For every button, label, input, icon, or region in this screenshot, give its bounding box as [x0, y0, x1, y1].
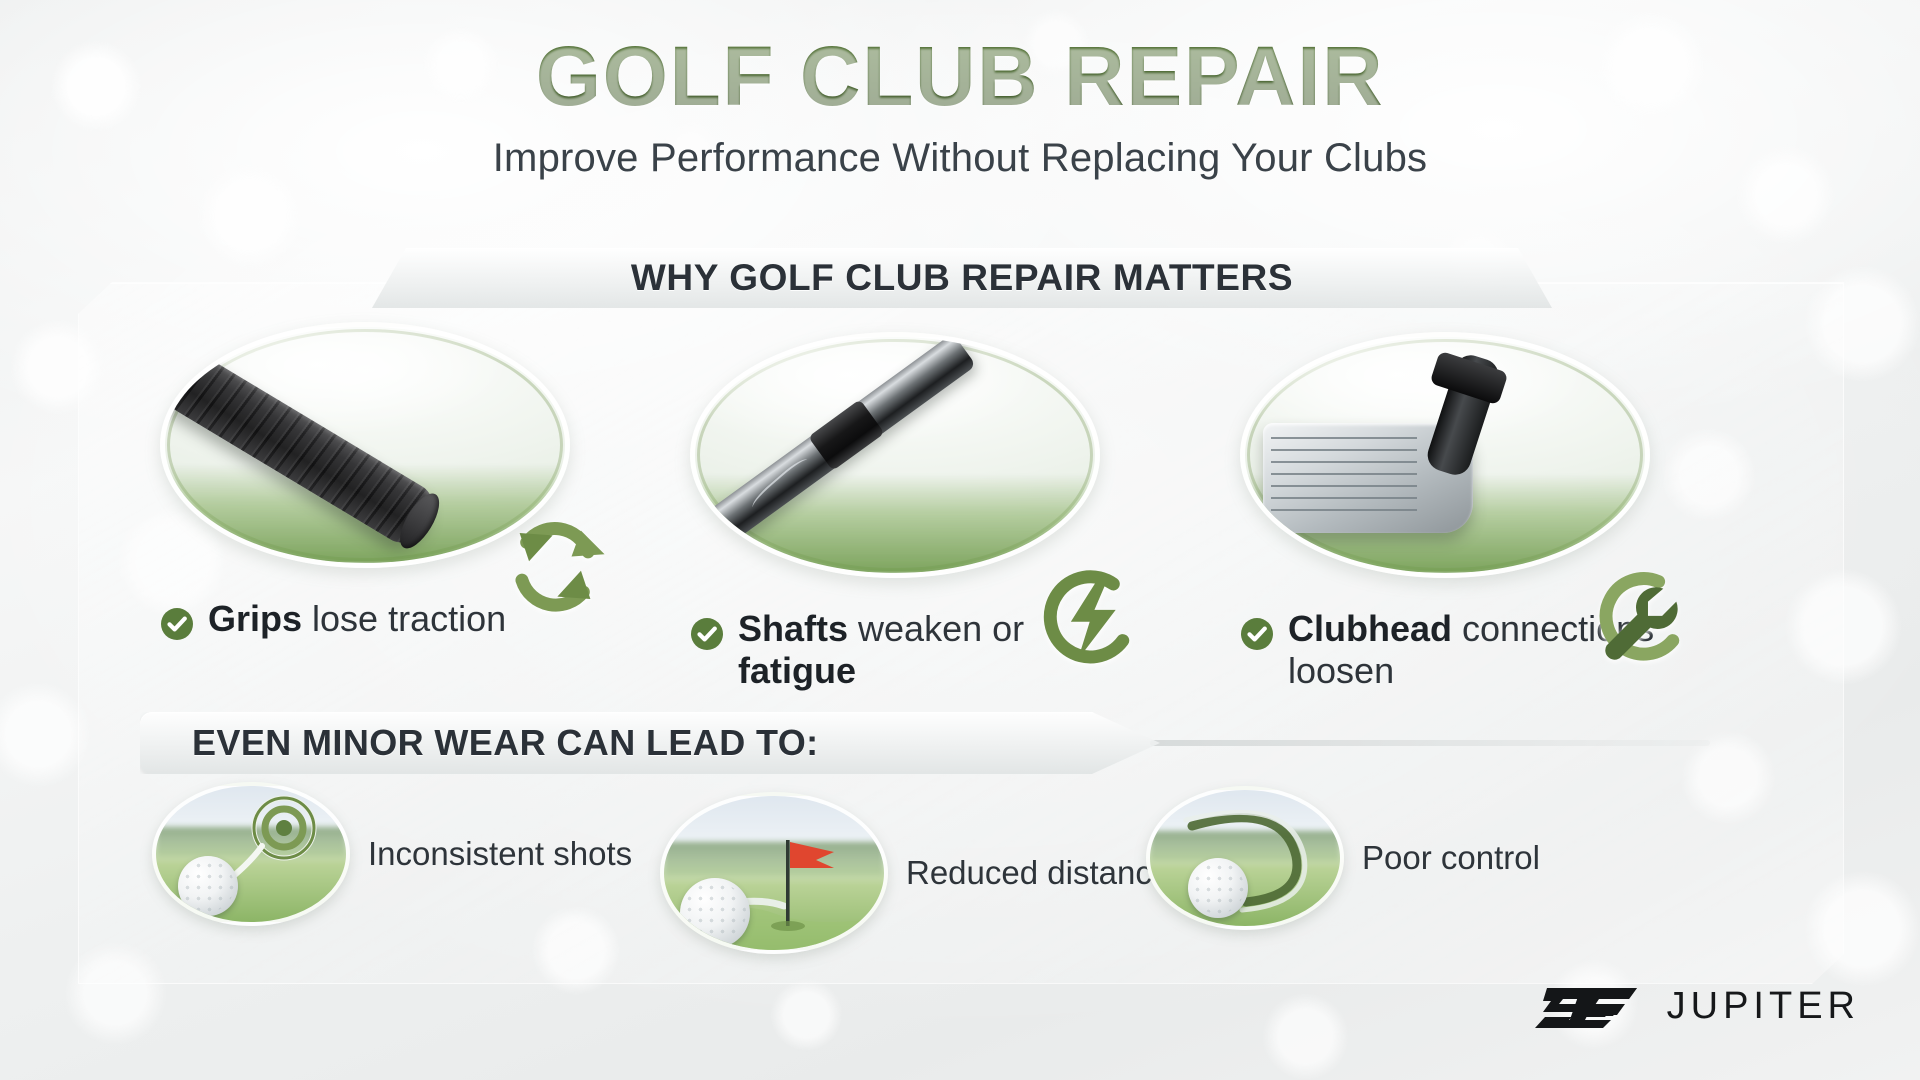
check-circle-icon: [160, 607, 194, 641]
check-circle-icon: [690, 617, 724, 651]
feature-caption-rest: lose traction: [302, 598, 506, 639]
clubhead-grooves: [1271, 437, 1417, 517]
consequence-inconsistent-shots: Inconsistent shots: [152, 782, 632, 926]
clubhead-illustration: [1240, 332, 1650, 578]
consequence-label: Reduced distance: [906, 853, 1170, 893]
consequence-reduced-distance: Reduced distance: [660, 792, 1170, 954]
ball-target-illustration: [152, 782, 350, 926]
curved-trajectory-icon: [1150, 790, 1340, 926]
ball-flag-fairway-illustration: [660, 792, 888, 954]
feature-caption-bold: Shafts: [738, 608, 848, 649]
brand-logo: JUPITER: [1533, 985, 1860, 1028]
golf-ball: [680, 878, 750, 948]
feature-card-clubhead: Clubhead connections loosen: [1240, 332, 1680, 692]
page-title: GOLF CLUB REPAIR: [0, 34, 1920, 118]
why-section-banner-label: WHY GOLF CLUB REPAIR MATTERS: [631, 257, 1293, 299]
consequence-label: Poor control: [1362, 838, 1540, 878]
recycle-arrows-icon: [496, 507, 614, 625]
infographic-canvas: GOLF CLUB REPAIR Improve Performance Wit…: [0, 0, 1920, 1080]
feature-caption-text: Grips lose traction: [208, 598, 506, 640]
feature-caption-bold: Clubhead: [1288, 608, 1452, 649]
sf-logo-mark: [1533, 986, 1651, 1028]
why-section-banner: WHY GOLF CLUB REPAIR MATTERS: [372, 248, 1552, 308]
feature-caption-rest: weaken or: [848, 608, 1024, 649]
golf-ball: [1188, 858, 1248, 918]
golf-shaft-illustration: [690, 332, 1100, 578]
wrench-icon: [1576, 558, 1694, 676]
wear-section-banner: EVEN MINOR WEAR CAN LEAD TO:: [140, 712, 1160, 774]
consequence-label: Inconsistent shots: [368, 834, 632, 874]
wear-section-banner-label: EVEN MINOR WEAR CAN LEAD TO:: [192, 722, 819, 764]
page-subtitle: Improve Performance Without Replacing Yo…: [0, 136, 1920, 181]
ball-curve-illustration: [1146, 786, 1344, 930]
check-circle-icon: [1240, 617, 1274, 651]
consequence-poor-control: Poor control: [1146, 786, 1540, 930]
feature-card-shafts: Shafts weaken or fatigue: [690, 332, 1130, 692]
feature-card-grips: Grips lose traction: [160, 322, 600, 641]
lightning-bolt-icon: [1026, 558, 1144, 676]
wear-banner-tail: [1150, 740, 1710, 746]
feature-caption-bold2: fatigue: [738, 650, 856, 691]
feature-caption-bold: Grips: [208, 598, 302, 639]
golf-ball: [178, 856, 238, 916]
logo-wordmark: JUPITER: [1667, 985, 1860, 1028]
